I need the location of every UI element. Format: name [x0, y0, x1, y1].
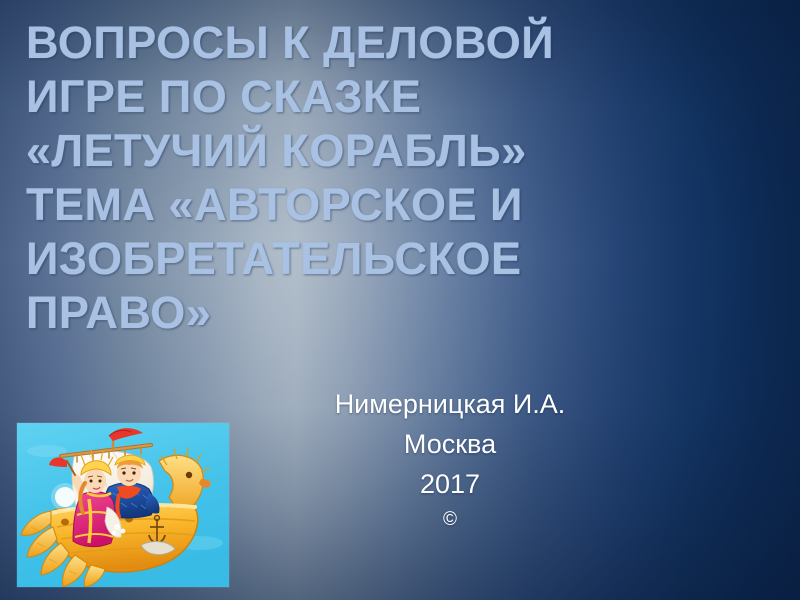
presentation-slide: Вопросы к деловой игре по сказке «Летучи…	[0, 0, 800, 600]
subtitle-author: Нимерницкая И.А.	[240, 384, 660, 424]
title-line-1: Вопросы к деловой	[26, 16, 726, 70]
subtitle-city: Москва	[240, 424, 660, 464]
title-line-5: изобретательское	[26, 232, 726, 286]
title-line-6: право»	[26, 286, 726, 340]
title-line-4: Тема «Авторское и	[26, 178, 726, 232]
subtitle-year: 2017	[240, 464, 660, 504]
flying-ship-image	[17, 423, 229, 587]
slide-subtitle: Нимерницкая И.А. Москва 2017 ©	[240, 384, 660, 536]
copyright-symbol: ©	[240, 504, 660, 536]
flying-ship-illustration	[17, 423, 229, 587]
title-line-2: игре по сказке	[26, 70, 726, 124]
title-line-3: «Летучий корабль»	[26, 124, 726, 178]
slide-title: Вопросы к деловой игре по сказке «Летучи…	[26, 16, 726, 340]
